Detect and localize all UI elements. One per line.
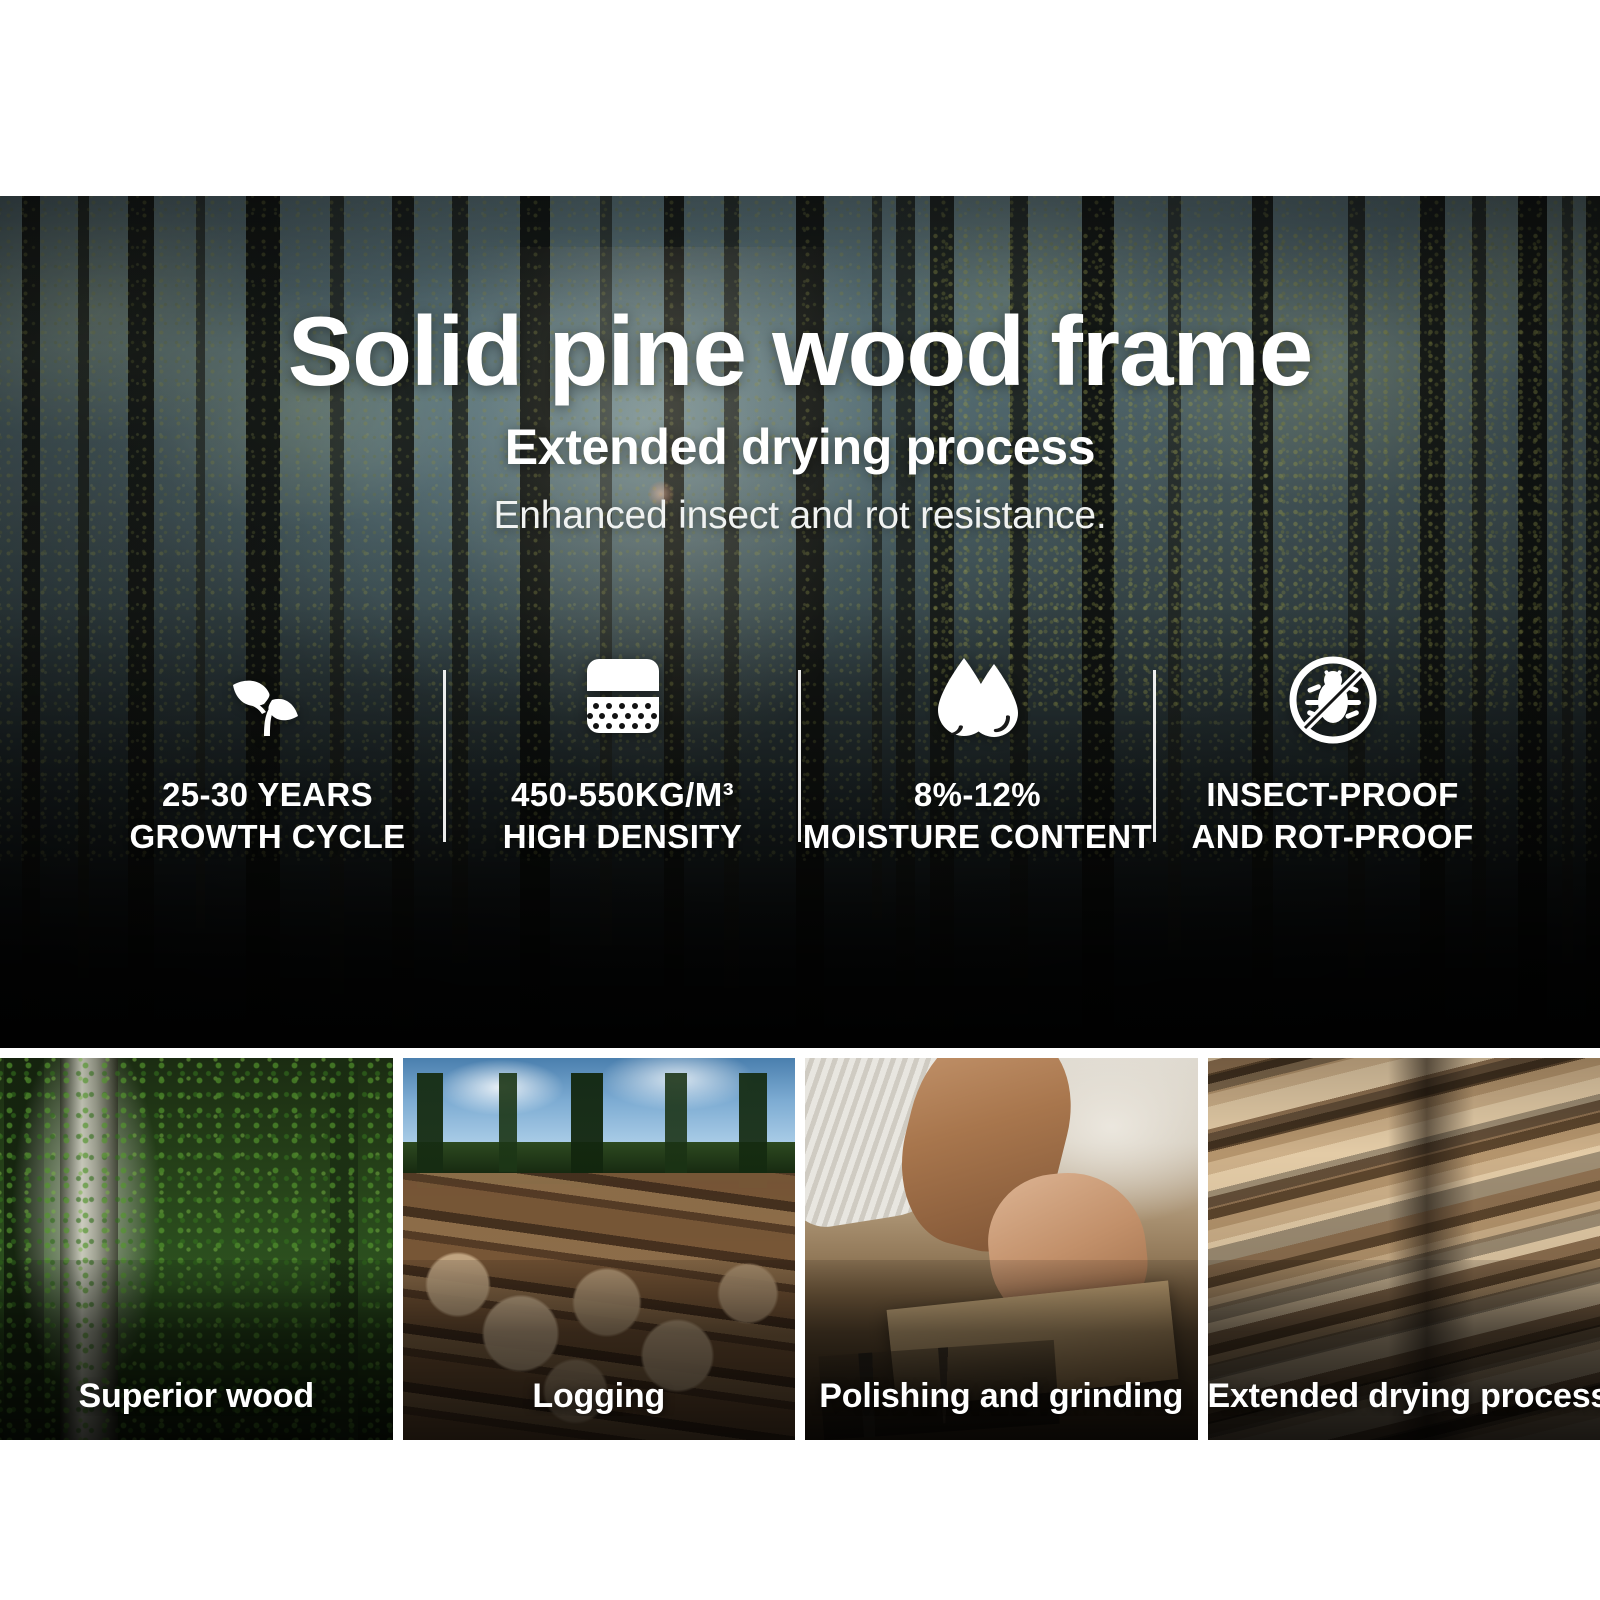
feature-label: 25-30 YEARS GROWTH CYCLE: [129, 774, 405, 858]
thumbnail-caption: Polishing and grinding: [805, 1377, 1198, 1416]
hero-tagline: Enhanced insect and rot resistance.: [0, 494, 1600, 538]
thumbnail-caption: Superior wood: [0, 1377, 393, 1416]
thumbnail-caption: Logging: [403, 1377, 796, 1416]
thumbnail-caption: Extended drying process: [1208, 1377, 1600, 1416]
hero-subtitle: Extended drying process: [0, 418, 1600, 476]
feature-caption: HIGH DENSITY: [503, 816, 743, 858]
feature-value: 8%-12%: [914, 776, 1041, 813]
background-conifers: [403, 1073, 796, 1188]
feature-label: 450-550KG/M³ HIGH DENSITY: [503, 774, 743, 858]
feature-insect-rot-proof: INSECT-PROOF AND ROT-PROOF: [1155, 646, 1510, 858]
hero-banner: Solid pine wood frame Extended drying pr…: [0, 196, 1600, 1048]
thumbnail-superior-wood[interactable]: Superior wood: [0, 1058, 393, 1440]
hero-text-block: Solid pine wood frame Extended drying pr…: [0, 196, 1600, 538]
feature-high-density: 450-550KG/M³ HIGH DENSITY: [445, 646, 800, 858]
feature-list: 25-30 YEARS GROWTH CYCLE: [0, 646, 1600, 858]
feature-growth-cycle: 25-30 YEARS GROWTH CYCLE: [90, 646, 445, 858]
sprout-leaf-icon: [220, 646, 316, 754]
feature-value: INSECT-PROOF: [1206, 776, 1458, 813]
water-droplets-icon: [928, 646, 1028, 754]
page-title: Solid pine wood frame: [0, 300, 1600, 404]
thumbnail-extended-drying-process[interactable]: Extended drying process: [1208, 1058, 1600, 1440]
thumbnail-polishing-grinding[interactable]: Polishing and grinding: [805, 1058, 1198, 1440]
density-layers-icon: [573, 646, 673, 754]
feature-value: 25-30 YEARS: [162, 776, 373, 813]
feature-value: 450-550KG/M³: [511, 776, 734, 813]
thumbnail-logging[interactable]: Logging: [403, 1058, 796, 1440]
feature-label: INSECT-PROOF AND ROT-PROOF: [1191, 774, 1473, 858]
no-insect-icon: [1283, 646, 1383, 754]
feature-caption: GROWTH CYCLE: [129, 816, 405, 858]
feature-caption: AND ROT-PROOF: [1191, 816, 1473, 858]
feature-label: 8%-12% MOISTURE CONTENT: [803, 774, 1152, 858]
feature-caption: MOISTURE CONTENT: [803, 816, 1152, 858]
infographic-page: Solid pine wood frame Extended drying pr…: [0, 0, 1600, 1600]
process-thumbnail-strip: Superior wood Logging Polishing an: [0, 1058, 1600, 1440]
feature-moisture-content: 8%-12% MOISTURE CONTENT: [800, 646, 1155, 858]
